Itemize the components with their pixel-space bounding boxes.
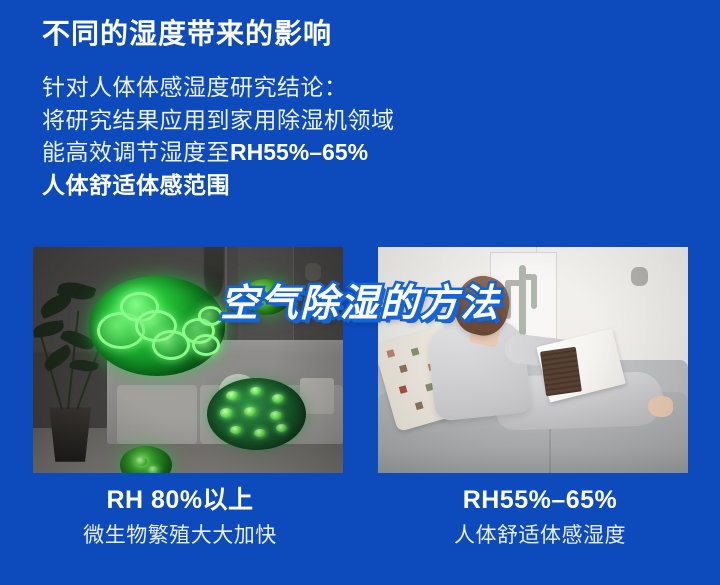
- body-line-4: 人体舒适体感范围: [42, 169, 682, 202]
- body-line-3-prefix: 能高效调节湿度至: [42, 139, 230, 165]
- virus-receptor: [226, 391, 239, 400]
- sofa-cushion: [117, 385, 198, 444]
- plant-stem: [39, 331, 63, 410]
- virus-receptor: [272, 394, 284, 403]
- virus-receptor: [276, 424, 287, 432]
- body-line-3-humidity-range: RH55%–65%: [230, 139, 368, 165]
- cushion-pattern-motif: [415, 401, 424, 410]
- caption-left-main: RH 80%以上: [0, 485, 360, 515]
- body-line-2: 将研究结果应用到家用除湿机领域: [42, 104, 682, 137]
- cushion-pattern-motif: [411, 347, 420, 356]
- caption-row: RH 80%以上 微生物繁殖大大加快 RH55%–65% 人体舒适体感湿度: [0, 485, 720, 548]
- virus-receptor: [254, 429, 266, 438]
- virus-sphere: [207, 378, 306, 450]
- cushion-pattern-motif: [399, 385, 408, 394]
- virus-receptor: [230, 426, 242, 435]
- microbe-spike: [148, 466, 159, 473]
- caption-left-sub: 微生物繁殖大大加快: [0, 523, 360, 548]
- page-title: 不同的湿度带来的影响: [42, 16, 682, 51]
- book-pages-edge: [540, 347, 582, 397]
- virus-receptor: [250, 387, 262, 396]
- virus-receptor: [220, 408, 233, 417]
- humidity-infographic-poster: 不同的湿度带来的影响 针对人体体感湿度研究结论： 将研究结果应用到家用除湿机领域…: [0, 0, 720, 585]
- virus-receptor: [244, 407, 257, 416]
- caption-right-sub: 人体舒适体感湿度: [360, 523, 720, 548]
- cushion-pattern-motif: [387, 349, 396, 358]
- caption-right-main: RH55%–65%: [360, 485, 720, 515]
- caption-right: RH55%–65% 人体舒适体感湿度: [360, 485, 720, 548]
- virus-receptor: [270, 411, 282, 420]
- body-line-1: 针对人体体感湿度研究结论：: [42, 71, 682, 104]
- overlay-title: 空气除湿的方法: [0, 272, 720, 327]
- microbe-cell: [192, 334, 220, 356]
- microbe-spike: [135, 457, 148, 466]
- body-paragraph: 针对人体体感湿度研究结论： 将研究结果应用到家用除湿机领域 能高效调节湿度至RH…: [42, 71, 682, 202]
- body-line-3: 能高效调节湿度至RH55%–65%: [42, 136, 682, 169]
- header-text-block: 不同的湿度带来的影响 针对人体体感湿度研究结论： 将研究结果应用到家用除湿机领域…: [42, 16, 682, 202]
- person-foot: [648, 396, 673, 416]
- cushion-pattern-motif: [399, 364, 408, 373]
- caption-left: RH 80%以上 微生物繁殖大大加快: [0, 485, 360, 548]
